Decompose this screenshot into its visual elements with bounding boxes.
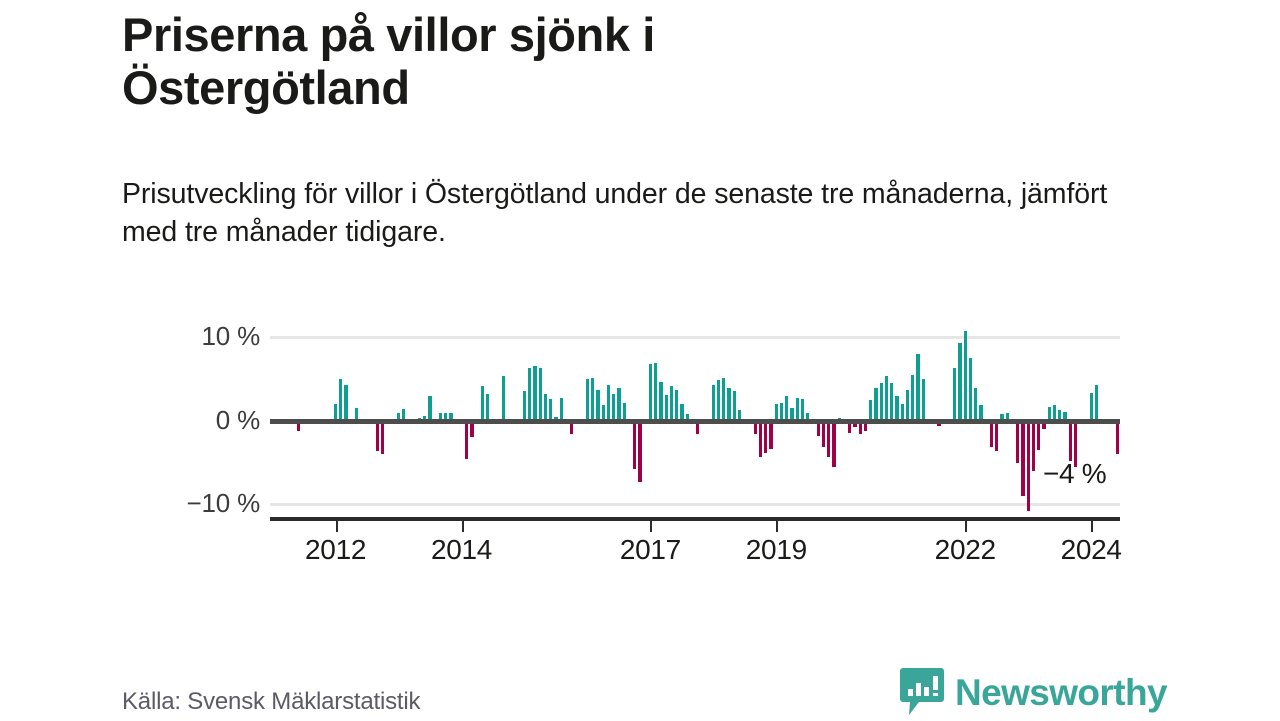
y-axis-label-10: 10 % xyxy=(140,321,260,352)
bar xyxy=(759,421,762,457)
bar xyxy=(764,421,767,453)
bar xyxy=(1021,421,1024,496)
bar xyxy=(969,358,972,421)
bar xyxy=(874,388,877,421)
bar xyxy=(428,396,431,421)
bar xyxy=(502,376,505,421)
x-axis-tick xyxy=(776,521,778,532)
bar xyxy=(911,375,914,421)
bar xyxy=(591,378,594,421)
bar xyxy=(539,368,542,421)
bar xyxy=(612,394,615,421)
y-axis-label-minus-10: −10 % xyxy=(140,488,260,519)
bar xyxy=(560,398,563,421)
x-axis-tick xyxy=(650,521,652,532)
bar xyxy=(727,388,730,421)
bar xyxy=(1016,421,1019,463)
bar xyxy=(1116,421,1119,454)
bar xyxy=(895,396,898,421)
bar xyxy=(376,421,379,451)
bar xyxy=(649,364,652,421)
bar xyxy=(769,421,772,449)
x-axis-label: 2012 xyxy=(305,534,366,566)
annotation-last-value: −4 % xyxy=(1043,458,1106,490)
bar xyxy=(528,368,531,421)
x-axis-tick xyxy=(965,521,967,532)
bar xyxy=(549,399,552,421)
bar xyxy=(586,379,589,421)
bar xyxy=(675,390,678,421)
x-axis-label: 2014 xyxy=(431,534,492,566)
bar xyxy=(717,380,720,421)
logo-wordmark: Newsworthy xyxy=(955,674,1167,711)
bar xyxy=(801,399,804,421)
zero-line xyxy=(270,419,1120,424)
bar xyxy=(1090,393,1093,421)
bar xyxy=(339,379,342,421)
infographic-page: Priserna på villor sjönk i Östergötland … xyxy=(0,0,1280,720)
bar xyxy=(916,354,919,421)
bar xyxy=(953,368,956,421)
newsworthy-logo[interactable]: Newsworthy xyxy=(900,668,1167,716)
bar xyxy=(381,421,384,454)
bar xyxy=(785,396,788,421)
x-axis-label: 2024 xyxy=(1061,534,1122,566)
bar xyxy=(880,383,883,421)
bar xyxy=(665,395,668,421)
bar xyxy=(544,394,547,421)
bar xyxy=(596,390,599,421)
bar xyxy=(869,400,872,421)
plot-area xyxy=(270,336,1120,506)
bar xyxy=(607,385,610,421)
x-axis-tick xyxy=(336,521,338,532)
bar xyxy=(654,363,657,421)
bar xyxy=(633,421,636,469)
bar xyxy=(885,376,888,421)
bar xyxy=(617,388,620,421)
bar-chart: 10 % 0 % −10 % 201220142017201920222024 … xyxy=(0,0,1280,720)
x-axis-tick xyxy=(1091,521,1093,532)
bar xyxy=(533,366,536,421)
bar xyxy=(1095,385,1098,421)
x-axis-label: 2022 xyxy=(935,534,996,566)
bar xyxy=(481,386,484,421)
bar xyxy=(964,331,967,421)
bar xyxy=(1037,421,1040,450)
bar xyxy=(832,421,835,467)
bar xyxy=(796,398,799,421)
bar xyxy=(465,421,468,459)
bar xyxy=(922,379,925,421)
bar xyxy=(712,385,715,421)
x-axis xyxy=(270,517,1120,521)
bar xyxy=(995,421,998,451)
bar xyxy=(638,421,641,482)
bar xyxy=(822,421,825,447)
bar xyxy=(906,390,909,421)
x-axis-label: 2017 xyxy=(620,534,681,566)
bar xyxy=(1027,421,1030,511)
bar xyxy=(827,421,830,457)
x-axis-label: 2019 xyxy=(746,534,807,566)
bar xyxy=(344,385,347,421)
bar-chart-speech-bubble-icon xyxy=(900,668,944,716)
bar xyxy=(1032,421,1035,471)
x-axis-tick xyxy=(462,521,464,532)
bar xyxy=(958,343,961,421)
bar xyxy=(670,386,673,421)
bar xyxy=(659,382,662,421)
bar xyxy=(990,421,993,447)
y-axis-label-0: 0 % xyxy=(140,405,260,436)
bar xyxy=(722,378,725,421)
bar xyxy=(1069,421,1072,461)
bar xyxy=(974,388,977,421)
y-axis-labels: 10 % 0 % −10 % xyxy=(140,336,260,516)
source-credit: Källa: Svensk Mäklarstatistik xyxy=(122,688,420,716)
bar xyxy=(733,391,736,421)
bar xyxy=(486,394,489,421)
x-axis-labels: 201220142017201920222024 xyxy=(270,534,1120,578)
bar xyxy=(890,383,893,421)
bar xyxy=(523,391,526,421)
